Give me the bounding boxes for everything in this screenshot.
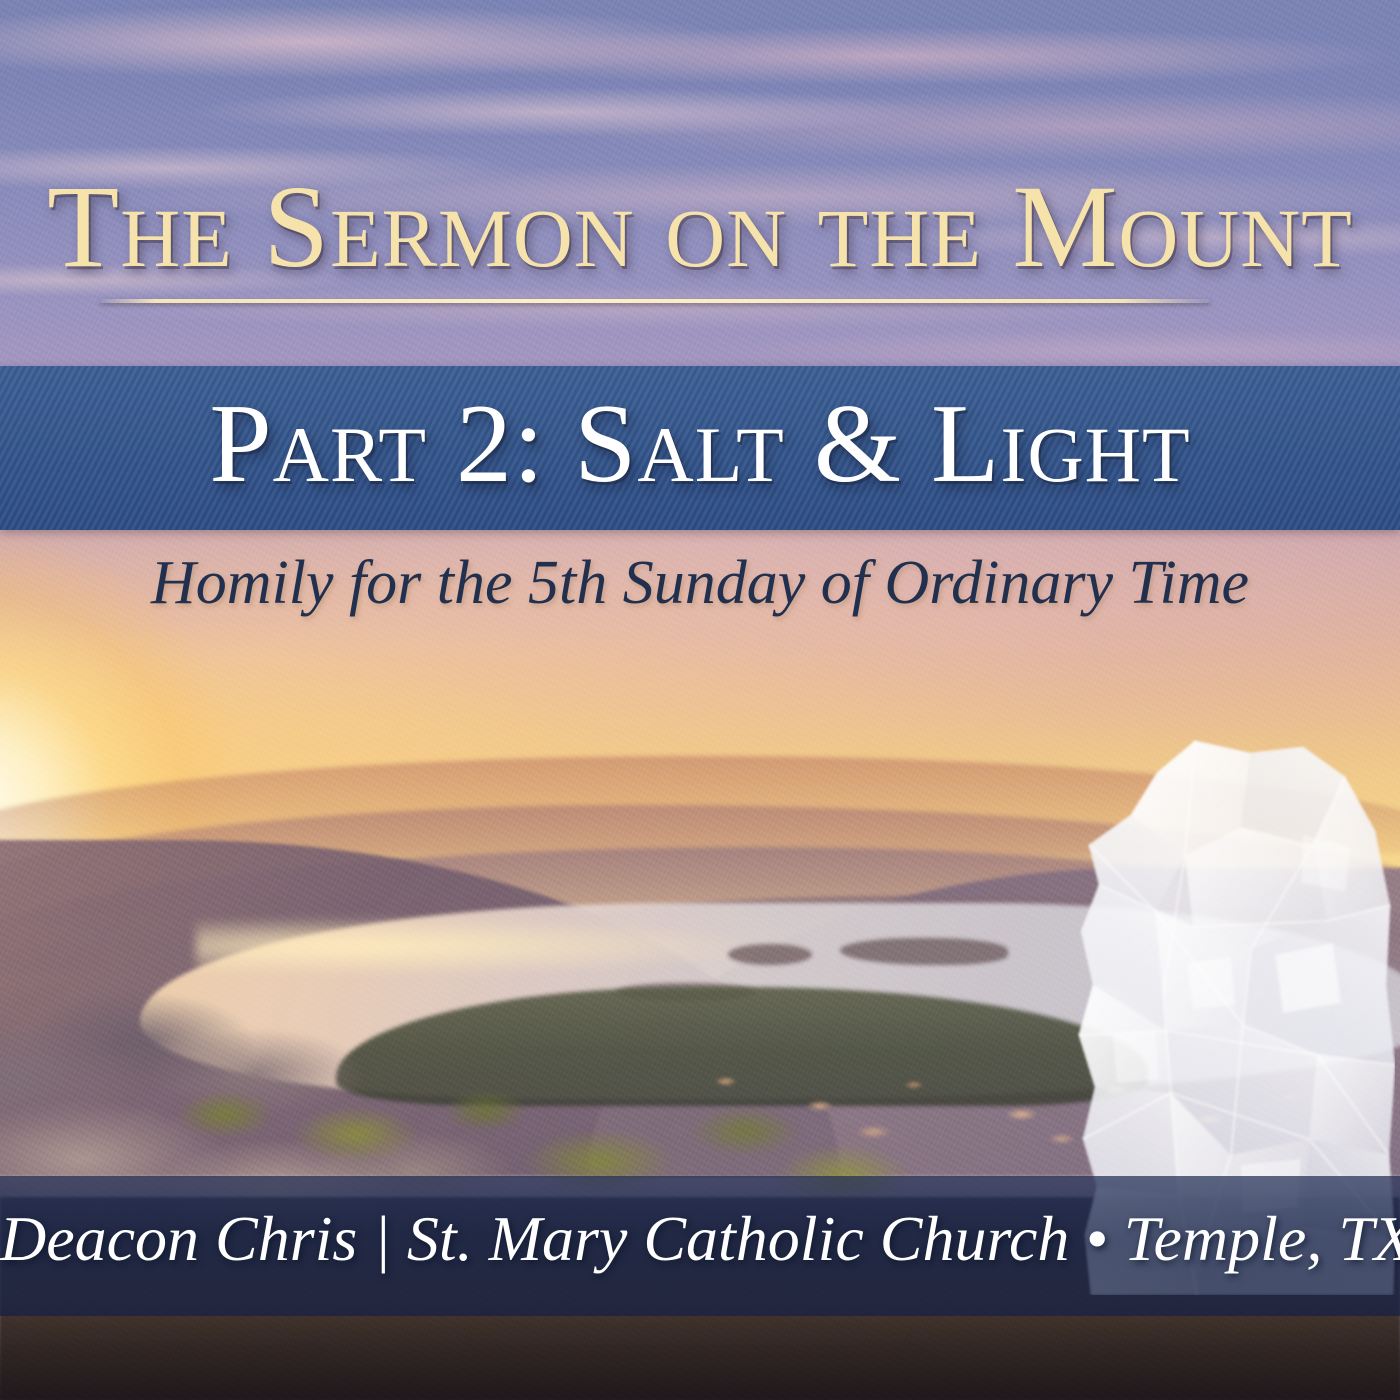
subtitle: Homily for the 5th Sunday of Ordinary Ti… bbox=[0, 552, 1400, 614]
part-title: Part 2: Salt & Light bbox=[0, 388, 1400, 500]
podcast-cover-art: The Sermon on the Mount Part 2: Salt & L… bbox=[0, 0, 1400, 1400]
page-title: The Sermon on the Mount bbox=[0, 168, 1400, 286]
gold-divider-rule bbox=[100, 299, 1210, 303]
credit-line: Deacon Chris | St. Mary Catholic Church … bbox=[0, 1196, 1400, 1282]
